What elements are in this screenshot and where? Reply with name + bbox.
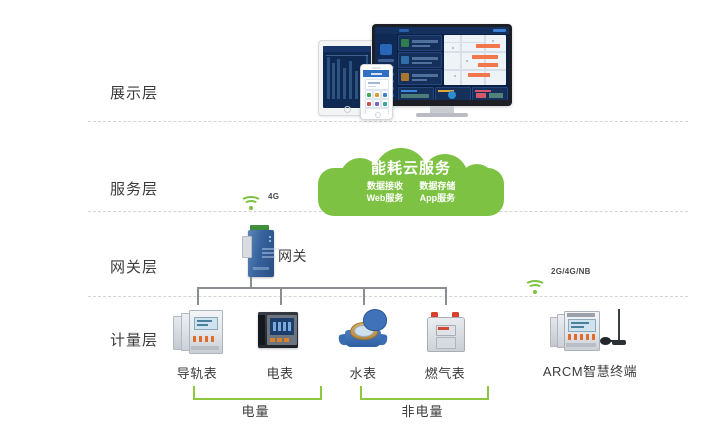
dashboard-widgets <box>398 87 506 99</box>
layer-label-gateway: 网关层 <box>110 256 190 277</box>
electric-meter-icon <box>232 306 328 358</box>
meter-label-electric: 电表 <box>232 363 328 382</box>
monitor-icon <box>372 24 512 116</box>
monitor-screen <box>375 27 509 100</box>
group-label-non-electric: 非电量 <box>360 401 485 420</box>
antenna-stand <box>612 340 626 345</box>
display-layer-devices <box>300 8 550 118</box>
cloud-feature-data-receive: 数据接收 <box>367 180 404 192</box>
architecture-diagram: 展示层 服务层 网关层 计量层 <box>0 0 715 443</box>
cloud-service-node: 能耗云服务 数据接收 Web服务 数据存储 App服务 <box>318 148 504 216</box>
layer-label-service: 服务层 <box>110 178 190 199</box>
dashboard-topbar <box>375 27 509 34</box>
dashboard-map <box>444 35 506 85</box>
cloud-feature-data-storage: 数据存储 <box>419 180 455 192</box>
gateway-node: 网关 <box>238 222 338 280</box>
cloud-feature-group-right: 数据存储 App服务 <box>419 180 455 204</box>
layer-divider-gateway-metering <box>88 296 688 297</box>
layer-divider-display-service <box>88 121 688 122</box>
gateway-port-plate <box>242 236 252 258</box>
meter-gas: 燃气表 <box>397 306 493 382</box>
gateway-label: 网关 <box>278 246 307 266</box>
bracket-electric-group <box>193 386 322 400</box>
cloud-feature-app-service: App服务 <box>419 192 455 204</box>
smart-terminal-arcm: ARCM智慧终端 <box>528 304 652 380</box>
bracket-non-electric-group <box>360 386 489 400</box>
gas-meter-icon <box>397 306 493 358</box>
monitor-bezel <box>372 24 512 106</box>
meter-electric: 电表 <box>232 306 328 382</box>
cloud-feature-web-service: Web服务 <box>367 192 404 204</box>
arcm-smart-terminal-icon <box>528 304 652 356</box>
wire-drop-gas-meter <box>445 287 447 305</box>
wifi-signal-icon <box>240 196 262 212</box>
monitor-stand-base <box>416 113 468 117</box>
cloud-feature-group-left: 数据接收 Web服务 <box>367 180 404 204</box>
layer-label-display: 展示层 <box>110 82 190 103</box>
meter-label-arcm-terminal: ARCM智慧终端 <box>528 361 652 380</box>
smartphone-icon <box>360 64 393 120</box>
meter-label-din-rail: 导轨表 <box>149 363 245 382</box>
meter-din-rail: 导轨表 <box>149 306 245 382</box>
phone-home-button <box>375 112 381 118</box>
dashboard-stat-cards <box>398 35 442 85</box>
group-label-electric: 电量 <box>193 401 318 420</box>
tablet-screen-header <box>323 46 371 52</box>
meter-label-gas: 燃气表 <box>397 363 493 382</box>
wire-drop-water-meter <box>363 287 365 305</box>
antenna-icon <box>618 309 620 341</box>
phone-screen <box>363 70 389 114</box>
antenna-magnet-base <box>600 337 611 345</box>
wire-drop-electric-meter <box>280 287 282 305</box>
cloud-feature-row: 数据接收 Web服务 数据存储 App服务 <box>318 180 504 204</box>
gateway-uplink-label: 4G <box>268 192 279 201</box>
din-rail-meter-icon <box>149 306 245 358</box>
phone-app-header <box>363 70 389 77</box>
cloud-title: 能耗云服务 <box>318 157 504 178</box>
phone-speaker <box>372 67 381 69</box>
wire-meter-bus <box>197 287 446 289</box>
terminal-uplink-label: 2G/4G/NB <box>551 267 591 276</box>
wire-drop-din-rail-meter <box>197 287 199 305</box>
tablet-home-button <box>344 106 351 113</box>
wifi-signal-icon-terminal <box>524 280 546 296</box>
